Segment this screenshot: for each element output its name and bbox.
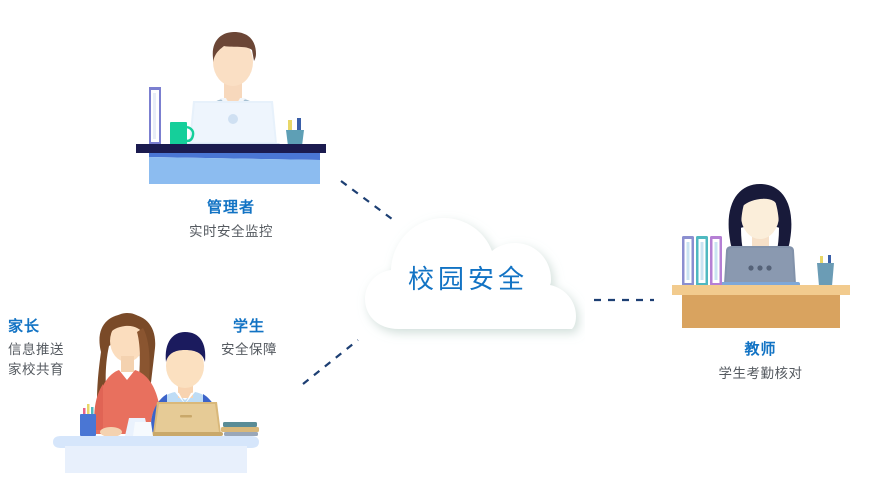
administrator-desc: 实时安全监控 <box>136 222 326 242</box>
teacher-at-desk-icon <box>668 178 853 328</box>
teacher-desk <box>672 285 850 328</box>
student-title: 学生 <box>221 315 277 336</box>
student-books <box>221 422 259 436</box>
teacher-title: 教师 <box>668 338 853 359</box>
parent-pen-cup <box>80 404 96 436</box>
administrator-mug <box>170 122 193 145</box>
teacher-binders <box>682 236 722 286</box>
parent-person <box>94 313 161 437</box>
parent-title: 家长 <box>8 315 64 336</box>
administrator-pen-cup <box>286 115 304 146</box>
parent-caption: 家长 信息推送 家校共育 <box>8 315 64 380</box>
administrator-desk <box>136 144 326 184</box>
administrator-title: 管理者 <box>136 196 326 217</box>
parent-student-desk <box>53 436 259 473</box>
connector-admin-to-cloud <box>341 181 396 222</box>
administrator-at-desk-icon <box>136 26 326 186</box>
teacher-pen-cup <box>817 252 834 286</box>
connector-parent-student-to-cloud <box>303 340 358 384</box>
administrator-book <box>149 87 161 145</box>
administrator-laptop <box>186 101 280 146</box>
teacher-desc: 学生考勤核对 <box>668 364 853 384</box>
parent-desc-line-1: 信息推送 <box>8 340 64 360</box>
teacher-illustration <box>668 178 853 328</box>
administrator-illustration <box>136 26 326 186</box>
student-laptop <box>151 402 223 436</box>
teacher-laptop <box>720 246 800 287</box>
student-desc: 安全保障 <box>221 340 277 360</box>
diagram-canvas: 校园安全 <box>0 0 870 491</box>
administrator-caption: 管理者 实时安全监控 <box>136 196 326 242</box>
student-caption: 学生 安全保障 <box>221 315 277 360</box>
parent-desc-line-2: 家校共育 <box>8 360 64 380</box>
teacher-caption: 教师 学生考勤核对 <box>668 338 853 384</box>
